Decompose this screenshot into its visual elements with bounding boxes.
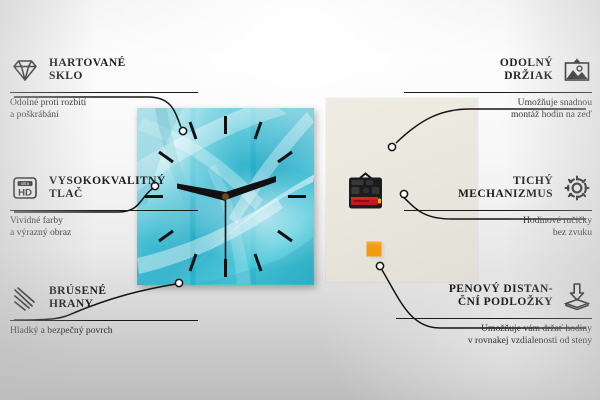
feature-divider xyxy=(404,92,592,93)
feature-title: BRÚSENÉHRANY xyxy=(49,285,106,312)
feature-divider xyxy=(404,210,592,211)
polished-edges-icon xyxy=(10,283,40,313)
connector-dot-tempered-glass xyxy=(179,127,186,134)
feature-description: Odolné proti rozbitía poškrábání xyxy=(10,97,198,122)
feature-durable-hanger: ODOLNÝDRŽIAK Umožňuje snadnoumontáž hodi… xyxy=(404,52,592,122)
feature-divider xyxy=(10,92,198,93)
feature-title: VYSOKOKVALITNÝTLAČ xyxy=(49,175,166,202)
feature-divider xyxy=(10,210,198,211)
feature-title: ODOLNÝDRŽIAK xyxy=(500,57,553,84)
diamond-icon xyxy=(10,55,40,85)
feature-header: ultra HD VYSOKOKVALITNÝTLAČ xyxy=(10,170,198,206)
feature-header: ODOLNÝDRŽIAK xyxy=(404,52,592,88)
picture-hanger-icon xyxy=(562,55,592,85)
feature-foam-spacers: PENOVÝ DISTAN-ČNÍ PODLOŽKY Umožňuje vám … xyxy=(396,278,592,348)
feature-tempered-glass: HARTOVANÉSKLO Odolné proti rozbitía pošk… xyxy=(10,52,198,122)
feature-header: HARTOVANÉSKLO xyxy=(10,52,198,88)
feature-header: PENOVÝ DISTAN-ČNÍ PODLOŽKY xyxy=(396,278,592,314)
feature-divider xyxy=(10,320,198,321)
ultra-hd-icon: ultra HD xyxy=(10,173,40,203)
feature-polished-edges: BRÚSENÉHRANY Hladký a bezpečný povrch xyxy=(10,280,198,337)
feature-description: Hladký a bezpečný povrch xyxy=(10,325,198,337)
feature-header: BRÚSENÉHRANY xyxy=(10,280,198,316)
feature-divider xyxy=(396,318,592,319)
feature-title: PENOVÝ DISTAN-ČNÍ PODLOŽKY xyxy=(449,283,553,310)
feature-description: Hodinové ručičkybez zvuku xyxy=(404,215,592,240)
feature-header: TICHÝMECHANIZMUS xyxy=(404,170,592,206)
feature-silent-movement: TICHÝMECHANIZMUS Hodinové ručičkybez zvu… xyxy=(404,170,592,240)
connector-dot-foam-spacers xyxy=(376,262,383,269)
feature-title: TICHÝMECHANIZMUS xyxy=(458,175,553,202)
feature-hd-print: ultra HD VYSOKOKVALITNÝTLAČ Vividné farb… xyxy=(10,170,198,240)
feature-description: Vividné farbya výrazný obraz xyxy=(10,215,198,240)
feature-description: Umožňuje vám držať hodinyv rovnakej vzdi… xyxy=(396,323,592,348)
product-infographic: HARTOVANÉSKLO Odolné proti rozbitía pošk… xyxy=(0,0,600,400)
feature-title: HARTOVANÉSKLO xyxy=(49,57,126,84)
foam-spacer-icon xyxy=(562,281,592,311)
feature-description: Umožňuje snadnoumontáž hodin na zeď xyxy=(404,97,592,122)
gear-icon xyxy=(562,173,592,203)
svg-text:HD: HD xyxy=(18,187,32,198)
connector-dot-hanger xyxy=(388,143,395,150)
svg-text:ultra: ultra xyxy=(21,181,30,186)
